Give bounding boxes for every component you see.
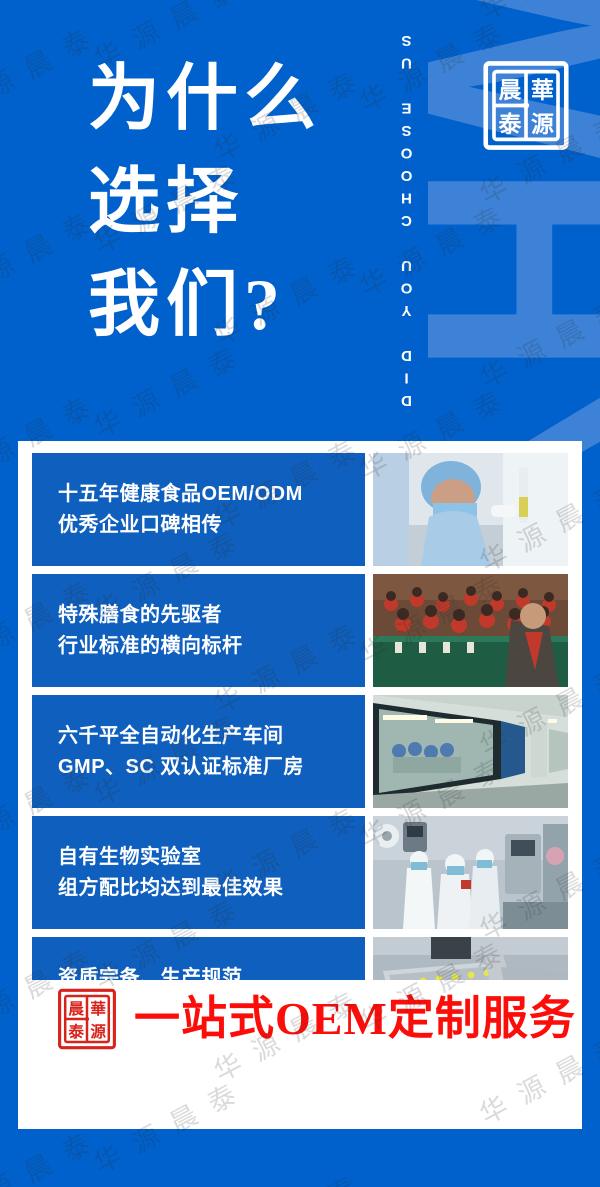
card-line-1: 六千平全自动化生产车间 [58,721,365,752]
card-line-2: GMP、SC 双认证标准厂房 [58,752,365,783]
poster-root: WHY 为什么 选择 我们? DID YOU CHOOSE US 晨 [0,0,600,1187]
card-text-panel: 六千平全自动化生产车间 GMP、SC 双认证标准厂房 [32,695,365,808]
svg-text:華: 華 [90,999,106,1018]
list-item[interactable]: 自有生物实验室 组方配比均达到最佳效果 [32,816,568,929]
headline-line-2: 选择 [88,151,388,254]
svg-text:泰: 泰 [67,1022,84,1041]
poster-header: 为什么 选择 我们? DID YOU CHOOSE US 晨 泰 華 源 [0,0,600,440]
card-line-2: 行业标准的横向标杆 [58,631,365,662]
cta-banner[interactable]: 晨 泰 華 源 一站式OEM定制服务 [32,980,568,1058]
card-line-1: 自有生物实验室 [58,842,365,873]
headline-line-1: 为什么 [88,48,388,151]
svg-text:源: 源 [90,1022,106,1041]
list-item[interactable]: 十五年健康食品OEM/ODM 优秀企业口碑相传 [32,453,568,566]
feature-card-frame: 十五年健康食品OEM/ODM 优秀企业口碑相传 [18,441,582,1129]
svg-text:源: 源 [531,112,554,138]
list-item[interactable]: 六千平全自动化生产车间 GMP、SC 双认证标准厂房 [32,695,568,808]
cleanroom-production-corridor-image [373,695,568,808]
feature-card-list: 十五年健康食品OEM/ODM 优秀企业口碑相传 [32,453,568,1058]
svg-text:華: 華 [531,77,554,104]
card-text-panel: 自有生物实验室 组方配比均达到最佳效果 [32,816,365,929]
svg-text:泰: 泰 [498,111,523,138]
card-line-2: 组方配比均达到最佳效果 [58,873,365,904]
card-line-2: 优秀企业口碑相传 [58,510,365,541]
card-text-panel: 特殊膳食的先驱者 行业标准的横向标杆 [32,574,365,687]
company-seal-icon: 晨 泰 華 源 [480,57,572,154]
conference-audience-red-scarves-image [373,574,568,687]
card-line-1: 特殊膳食的先驱者 [58,600,365,631]
headline-line-3: 我们? [88,254,388,357]
vertical-tagline: DID YOU CHOOSE US [398,28,424,408]
lab-technician-testing-vial-image [373,453,568,566]
workers-white-coats-packaging-line-image [373,816,568,929]
svg-text:晨: 晨 [499,78,522,104]
page-title: 为什么 选择 我们? [88,48,388,357]
card-text-panel: 十五年健康食品OEM/ODM 优秀企业口碑相传 [32,453,365,566]
list-item[interactable]: 特殊膳食的先驱者 行业标准的横向标杆 [32,574,568,687]
svg-text:晨: 晨 [68,1000,84,1018]
card-line-1: 十五年健康食品OEM/ODM [58,479,365,510]
cta-banner-text: 一站式OEM定制服务 [134,996,576,1042]
company-seal-icon: 晨 泰 華 源 [54,986,120,1052]
